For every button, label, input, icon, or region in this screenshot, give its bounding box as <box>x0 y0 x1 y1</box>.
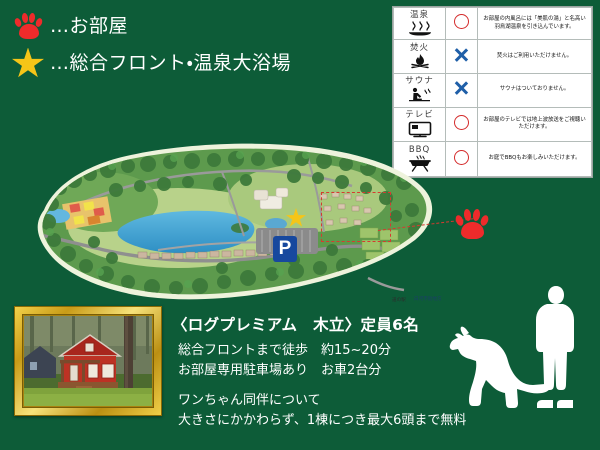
facility-description: サウナはついておりません。 <box>481 86 588 94</box>
campfire-icon <box>394 53 445 69</box>
description-line-walk: 総合フロントまで徒歩 約15~20分 <box>178 341 452 361</box>
resort-map[interactable]: P <box>8 132 448 312</box>
cabin-photo <box>24 316 152 406</box>
facility-desc-cell-sauna: サウナはついておりません。 <box>478 73 592 107</box>
pet-policy-detail: 大きさにかかわらず、1棟につき最大6頭まで無料 <box>178 411 452 431</box>
facility-label-onsen: 温泉 <box>394 11 445 20</box>
table-row: 温泉 お部屋の <box>394 8 592 40</box>
legend-item-front-desk: …総合フロント・温泉大浴場 <box>8 45 378 82</box>
legend-label-room: …お部屋 <box>50 17 128 36</box>
paw-print-icon <box>8 9 50 45</box>
dog-silhouette <box>450 327 550 408</box>
facility-desc-cell-tv: お部屋のテレビでは地上波放送をご視聴いただけます。 <box>478 107 592 142</box>
facility-mark-onsen <box>446 8 478 40</box>
map-room-area-highlight <box>321 192 391 242</box>
facility-label-sauna: サウナ <box>394 77 445 86</box>
scale-silhouettes <box>448 282 596 442</box>
facility-label-campfire: 焚火 <box>394 44 445 53</box>
facility-description: お部屋の内風呂には「美肌の湯」と名高い羽鳥湖温泉を引き込んでいます。 <box>481 16 588 32</box>
facility-desc-cell-bbq: お庭でBBQもお楽しみいただけます。 <box>478 142 592 177</box>
facility-mark-tv <box>446 107 478 142</box>
legend-item-room: …お部屋 <box>8 8 378 45</box>
legend: …お部屋 …総合フロント・温泉大浴場 <box>8 8 378 82</box>
facility-desc-cell-campfire: 焚火はご利用いただけません。 <box>478 40 592 74</box>
facility-icon-cell-onsen: 温泉 <box>394 8 446 40</box>
facility-description: お部屋のテレビでは地上波放送をご視聴いただけます。 <box>481 117 588 133</box>
facility-label-tv: テレビ <box>394 111 445 120</box>
poster-root: …お部屋 …総合フロント・温泉大浴場 温泉 <box>0 0 600 450</box>
facility-mark-sauna <box>446 73 478 107</box>
star-icon <box>8 46 50 82</box>
map-exit-road <box>368 278 404 290</box>
facility-description: 焚火はご利用いただけません。 <box>481 53 588 61</box>
table-row: サウナ <box>394 73 592 107</box>
facility-mark-bbq <box>446 142 478 177</box>
facility-icon-cell-campfire: 焚火 <box>394 40 446 74</box>
facility-icon-cell-sauna: サウナ <box>394 73 446 107</box>
table-row: 焚火 焚火はご利用いただけません。 <box>394 40 592 74</box>
facility-desc-cell-onsen: お部屋の内風呂には「美肌の湯」と名高い羽鳥湖温泉を引き込んでいます。 <box>478 8 592 40</box>
page-title: 〈ログプレミアム 木立〉定員6名 <box>172 313 452 335</box>
map-note-michinoeki: 道の駅 <box>392 297 406 303</box>
map-parking-marker[interactable]: P <box>273 236 297 262</box>
legend-label-front-desk: …総合フロント・温泉大浴場 <box>50 54 291 73</box>
pet-policy-heading: ワンちゃん同伴について <box>178 391 452 411</box>
sauna-icon <box>394 87 445 103</box>
map-note-shirakawa: 白河市街地方 <box>414 296 442 302</box>
description-line-parking: お部屋専用駐車場あり お車2台分 <box>178 361 452 381</box>
map-paw-marker[interactable] <box>456 208 490 242</box>
room-description: 〈ログプレミアム 木立〉定員6名 総合フロントまで徒歩 約15~20分 お部屋専… <box>172 313 452 430</box>
facility-description: お庭でBBQもお楽しみいただけます。 <box>481 155 588 163</box>
cabin-photo-frame <box>14 306 162 416</box>
facility-mark-campfire <box>446 40 478 74</box>
hot-spring-icon <box>394 21 445 36</box>
